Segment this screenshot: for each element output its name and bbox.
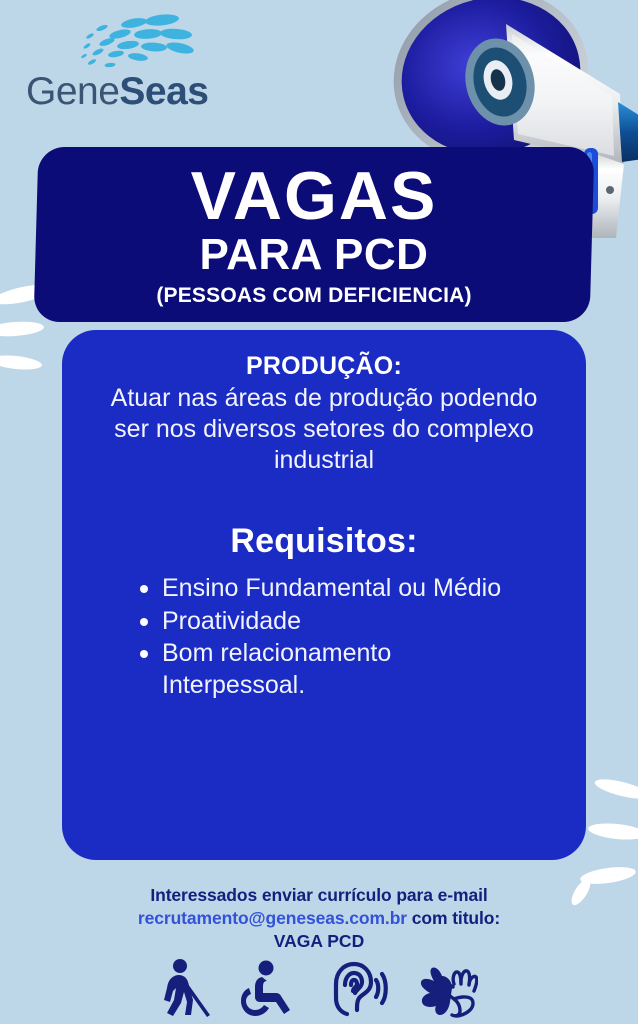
list-item: Ensino Fundamental ou Médio xyxy=(136,573,512,605)
headline-subtitle: (PESSOAS COM DEFICIENCIA) xyxy=(156,284,471,308)
fish-school-icon xyxy=(76,10,196,72)
decorative-spark xyxy=(593,775,638,802)
list-item: Proatividade xyxy=(136,606,512,638)
brand-logo: GeneSeas xyxy=(24,8,244,118)
brand-name-light: Gene xyxy=(26,70,119,113)
requirements-title: Requisitos: xyxy=(62,522,586,561)
headline-banner: VAGAS PARA PCD (PESSOAS COM DEFICIENCIA) xyxy=(34,147,595,322)
headline-secondary: PARA PCD xyxy=(200,232,429,278)
contact-email[interactable]: recrutamento@geneseas.com.br xyxy=(138,908,407,928)
footer-subject-prefix: com titulo: xyxy=(407,908,500,928)
wheelchair-icon xyxy=(240,960,298,1018)
list-item: Bom relacionamento Interpessoal. xyxy=(136,638,512,701)
job-posting-poster: GeneSeas xyxy=(0,0,638,1024)
blind-person-cane-icon xyxy=(160,958,212,1018)
accessibility-icon-row xyxy=(0,958,638,1018)
decorative-spark xyxy=(0,320,44,338)
footer-email-line: recrutamento@geneseas.com.br com titulo: xyxy=(0,907,638,930)
brand-name-bold: Seas xyxy=(119,70,208,113)
panel-content: PRODUÇÃO: Atuar nas áreas de produção po… xyxy=(62,330,586,702)
footer-subject: VAGA PCD xyxy=(0,930,638,953)
sign-language-hands-icon xyxy=(416,960,478,1018)
decorative-spark xyxy=(0,353,43,371)
requirements-list: Ensino Fundamental ou Médio Proatividade… xyxy=(136,573,512,702)
hearing-ear-icon xyxy=(326,960,388,1018)
headline-primary: VAGAS xyxy=(191,163,438,230)
role-title: PRODUÇÃO: xyxy=(62,352,586,381)
footer-contact: Interessados enviar currículo para e-mai… xyxy=(0,884,638,953)
brand-wordmark: GeneSeas xyxy=(26,70,209,114)
content-panel: PRODUÇÃO: Atuar nas áreas de produção po… xyxy=(62,330,586,860)
headline-banner-inner: VAGAS PARA PCD (PESSOAS COM DEFICIENCIA) xyxy=(36,147,592,322)
role-description: Atuar nas áreas de produção podendo ser … xyxy=(90,383,558,476)
decorative-spark xyxy=(587,821,638,842)
footer-instruction: Interessados enviar currículo para e-mai… xyxy=(0,884,638,907)
